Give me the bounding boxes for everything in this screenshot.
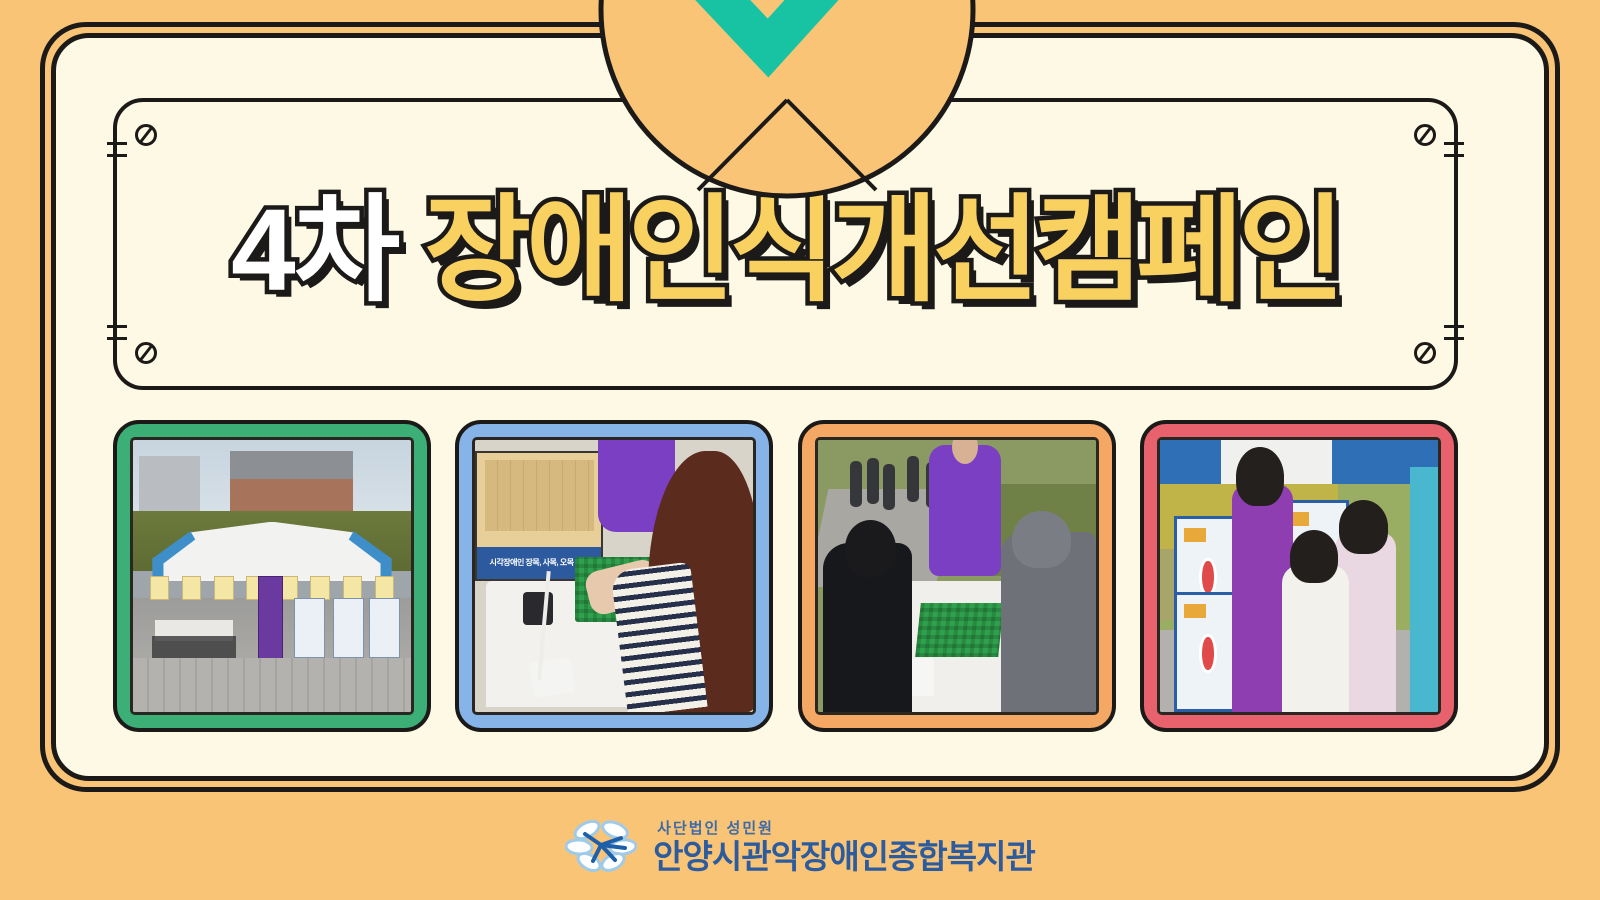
photo-card-quiz-boards[interactable] [1140, 420, 1458, 732]
footer-text-block: 사단법인 성민원 안양시관악장애인종합복지관 [653, 817, 1035, 873]
photo-stone-bowl [523, 592, 554, 625]
photo-card-tactile-game[interactable]: 시각장애인 장목, 사목, 오목 체험 [455, 420, 773, 732]
footer-branding: 사단법인 성민원 안양시관악장애인종합복지관 [0, 800, 1600, 890]
photo-sign-board-grid [485, 460, 594, 531]
poster-canvas: 4차 장애인식개선캠페인 [0, 0, 1600, 900]
photo-quiz-boards [1157, 437, 1441, 715]
photo-card-tent-booth[interactable] [113, 420, 431, 732]
check-badge-icon [598, 0, 976, 200]
title-main: 장애인식개선캠페인 [424, 192, 1339, 308]
photo-student-right [1001, 532, 1096, 712]
photo-gallery: 시각장애인 장목, 사목, 오목 체험 [113, 420, 1458, 732]
photo-display-board-2 [333, 598, 364, 658]
photo-students-playing [815, 437, 1099, 715]
photo-green-tactile-board [915, 603, 1004, 657]
photo-student-left [823, 543, 912, 712]
photo-white-cane-base [529, 658, 575, 699]
org-type-label: 사단법인 성민원 [657, 817, 1035, 838]
photo-pavement [133, 658, 411, 712]
photo-side-banner [1410, 467, 1438, 712]
org-name-label: 안양시관악장애인종합복지관 [653, 840, 1035, 873]
photo-display-board-3 [369, 598, 400, 658]
photo-card-students-playing[interactable] [798, 420, 1116, 732]
photo-participant-woman [648, 451, 757, 712]
photo-staff-purple [929, 445, 1001, 576]
photo-tent-canopy [1160, 440, 1438, 484]
photo-display-board-1 [294, 598, 325, 658]
photo-student-2 [1282, 565, 1349, 712]
photo-tactile-game: 시각장애인 장목, 사목, 오목 체험 [472, 437, 756, 715]
photo-tent-booth [130, 437, 414, 715]
flower-logo-icon [565, 814, 637, 876]
title-prefix: 4차 [231, 192, 398, 308]
